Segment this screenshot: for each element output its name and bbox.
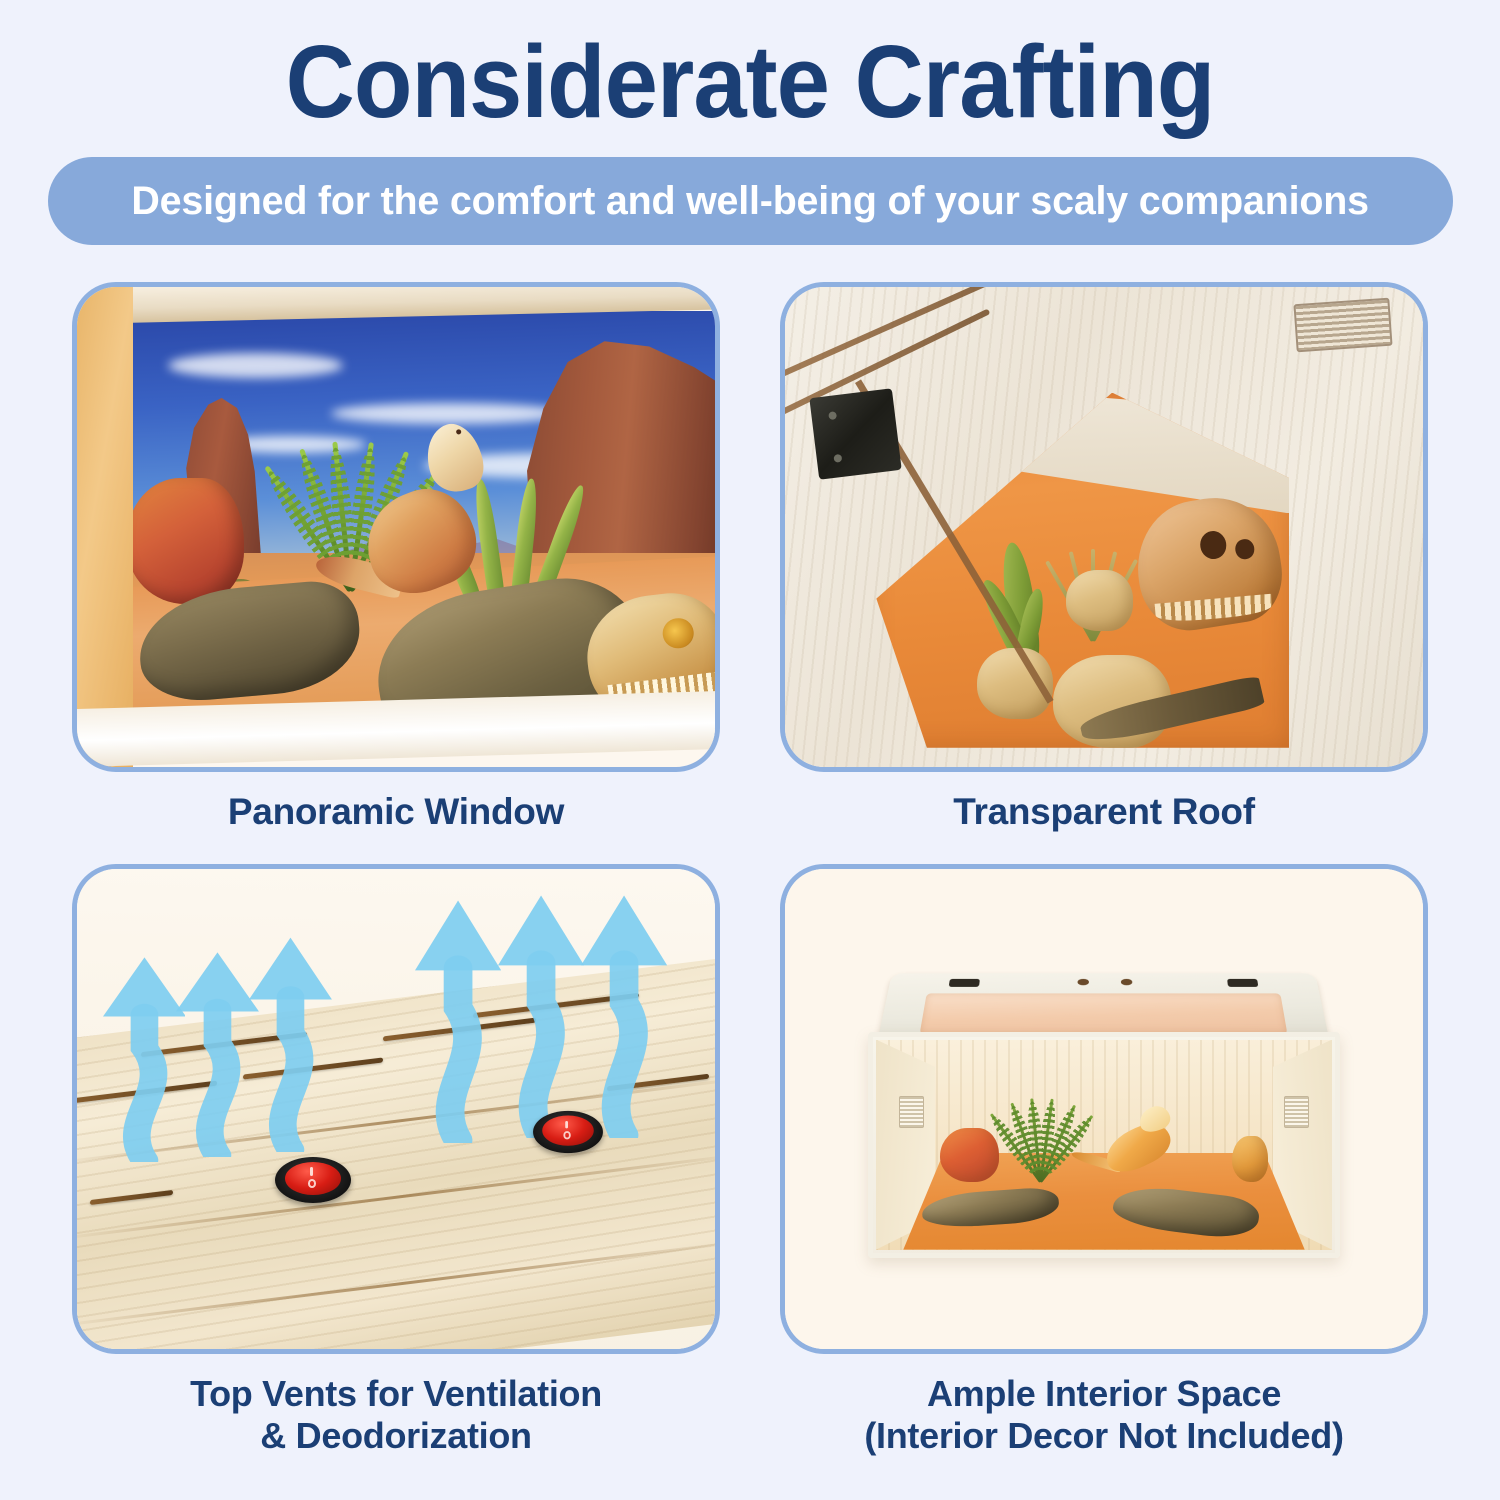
caption-top-vents: Top Vents for Ventilation & Deodorizatio… [72, 1373, 720, 1457]
enclosure-left-frame [77, 287, 133, 767]
dragon-eye [456, 429, 462, 435]
airflow-arrow-icon [103, 951, 186, 1162]
panoramic-window-photo [77, 287, 715, 767]
feature-cell-panoramic-window: Panoramic Window [72, 282, 720, 834]
switch-off-marking [564, 1131, 571, 1139]
power-rocker-switch[interactable] [275, 1157, 351, 1203]
red-rock-decor [940, 1128, 999, 1183]
enclosure-interior [876, 1040, 1332, 1250]
switch-on-marking [565, 1120, 568, 1128]
airflow-arrow-icon [581, 888, 667, 1138]
page-header: Considerate Crafting Designed for the co… [0, 0, 1500, 245]
panel-transparent-roof[interactable] [780, 282, 1428, 772]
airflow-arrow-icon [249, 931, 332, 1152]
fern-plant [1004, 1098, 1077, 1182]
top-vents-photo [77, 869, 715, 1349]
airflow-arrow-icon [176, 946, 259, 1157]
page-title: Considerate Crafting [53, 24, 1448, 139]
reptile-enclosure [868, 960, 1340, 1258]
subtitle-text: Designed for the comfort and well-being … [131, 179, 1368, 224]
cloud-shape [168, 353, 343, 378]
enclosure-body [868, 1032, 1340, 1258]
side-vent-grille-icon [1294, 298, 1393, 353]
feature-cell-ample-interior-space: Ample Interior Space (Interior Decor Not… [780, 864, 1428, 1457]
feature-cell-transparent-roof: Transparent Roof [780, 282, 1428, 834]
switch-cap [285, 1162, 341, 1195]
desert-terrarium-scene [133, 311, 715, 729]
grass-tuft-decor [1232, 1136, 1268, 1182]
skull-eye-socket [661, 616, 695, 650]
caption-transparent-roof: Transparent Roof [780, 791, 1428, 834]
feature-row-top: Panoramic Window [0, 282, 1500, 834]
red-rock-formation [133, 478, 244, 603]
ample-interior-space-photo [785, 869, 1423, 1349]
power-rocker-switch[interactable] [533, 1111, 603, 1153]
lid-vent-slot [1227, 979, 1258, 988]
dragon-head [418, 417, 491, 498]
feature-cell-top-vents: Top Vents for Ventilation & Deodorizatio… [72, 864, 720, 1457]
lid-vent-slot [949, 979, 980, 988]
caption-panoramic-window: Panoramic Window [72, 791, 720, 834]
roof-hinge [809, 388, 901, 479]
switch-off-marking [308, 1179, 316, 1188]
lid-knob [1121, 979, 1132, 985]
caption-ample-interior-space: Ample Interior Space (Interior Decor Not… [780, 1373, 1428, 1457]
side-vent-grille [899, 1096, 925, 1128]
airflow-arrow-icon [415, 893, 501, 1143]
panel-panoramic-window[interactable] [72, 282, 720, 772]
side-vent-grille [1284, 1096, 1310, 1128]
switch-on-marking [310, 1167, 313, 1176]
subtitle-banner: Designed for the comfort and well-being … [48, 157, 1453, 245]
transparent-roof-photo [785, 287, 1423, 767]
feature-row-bottom: Top Vents for Ventilation & Deodorizatio… [0, 864, 1500, 1457]
lid-knob [1078, 979, 1089, 985]
bearded-dragon [1095, 1107, 1186, 1187]
airflow-arrow-icon [498, 888, 584, 1138]
transparent-lid-glass [920, 993, 1289, 1034]
feature-panel-grid: Panoramic Window [0, 282, 1500, 1456]
panel-top-vents[interactable] [72, 864, 720, 1354]
panel-ample-interior-space[interactable] [780, 864, 1428, 1354]
switch-cap [542, 1115, 594, 1145]
